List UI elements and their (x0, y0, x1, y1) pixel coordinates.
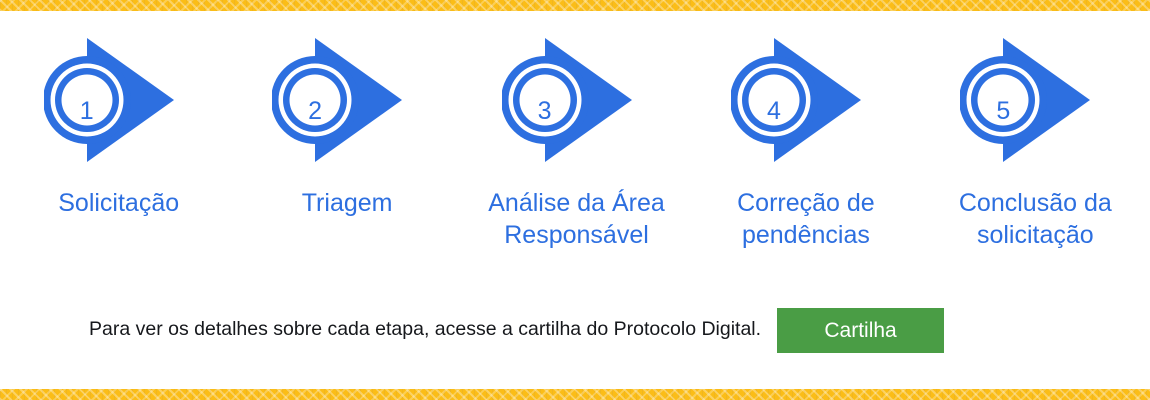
step-4-label: Correção de pendências (698, 188, 913, 251)
step-1-label: Solicitação (58, 188, 179, 220)
bottom-gold-stripe (0, 389, 1150, 400)
cartilha-button[interactable]: Cartilha (777, 308, 944, 353)
cartilha-button-label: Cartilha (824, 320, 896, 341)
steps-row: 1 Solicitação 2 Triagem (0, 30, 1150, 280)
step-3-label: Análise da Área Responsável (469, 188, 684, 251)
numbered-arrow-icon (731, 30, 881, 170)
cta-row: Para ver os detalhes sobre cada etapa, a… (0, 307, 1150, 353)
step-item-3[interactable]: 3 Análise da Área Responsável (462, 30, 691, 251)
step-2-icon-wrapper: 2 (272, 30, 422, 170)
step-item-5[interactable]: 5 Conclusão da solicitação (921, 30, 1150, 251)
protocolo-digital-steps-banner: 1 Solicitação 2 Triagem (0, 0, 1150, 400)
step-2-label: Triagem (302, 188, 393, 220)
step-item-4[interactable]: 4 Correção de pendências (691, 30, 920, 251)
step-1-icon-wrapper: 1 (44, 30, 194, 170)
numbered-arrow-icon (44, 30, 194, 170)
step-5-label: Conclusão da solicitação (928, 188, 1143, 251)
cta-description: Para ver os detalhes sobre cada etapa, a… (89, 318, 761, 341)
step-item-1[interactable]: 1 Solicitação (4, 30, 233, 220)
numbered-arrow-icon (960, 30, 1110, 170)
step-item-2[interactable]: 2 Triagem (232, 30, 461, 220)
top-gold-stripe (0, 0, 1150, 11)
step-4-icon-wrapper: 4 (731, 30, 881, 170)
step-3-icon-wrapper: 3 (502, 30, 652, 170)
numbered-arrow-icon (272, 30, 422, 170)
step-5-icon-wrapper: 5 (960, 30, 1110, 170)
numbered-arrow-icon (502, 30, 652, 170)
